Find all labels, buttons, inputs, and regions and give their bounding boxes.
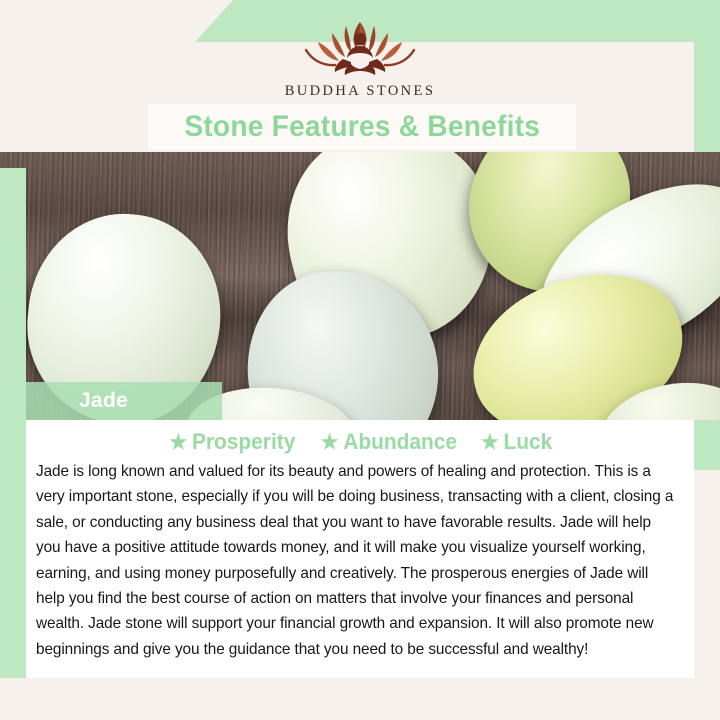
stone-photo	[0, 152, 720, 420]
brand-name: BUDDHA STONES	[0, 83, 720, 100]
brand-logo: BUDDHA STONES	[0, 14, 720, 100]
benefit-label: Prosperity	[192, 429, 295, 454]
benefits-row: ★Prosperity ★Abundance ★Luck	[36, 420, 684, 455]
lotus-buddha-icon	[294, 14, 426, 80]
stone-name-band: Jade	[26, 382, 222, 420]
benefit-item: ★Prosperity	[169, 429, 295, 455]
benefit-item: ★Luck	[481, 429, 552, 455]
title-banner: Stone Features & Benefits	[148, 104, 576, 150]
decorative-frame-left	[0, 168, 26, 720]
benefit-label: Luck	[504, 429, 553, 454]
benefit-item: ★Abundance	[321, 429, 457, 455]
content-panel: ★Prosperity ★Abundance ★Luck Jade is lon…	[26, 420, 694, 678]
star-icon: ★	[169, 431, 187, 454]
stone-description: Jade is long known and valued for its be…	[36, 459, 674, 662]
stone-info-card: BUDDHA STONES Stone Features & Benefits …	[0, 0, 720, 720]
star-icon: ★	[321, 431, 339, 454]
decorative-frame-left-fade	[0, 678, 44, 720]
stone-name-label: Jade	[79, 389, 128, 413]
page-title: Stone Features & Benefits	[184, 110, 540, 144]
benefit-label: Abundance	[343, 429, 457, 454]
star-icon: ★	[481, 431, 499, 454]
